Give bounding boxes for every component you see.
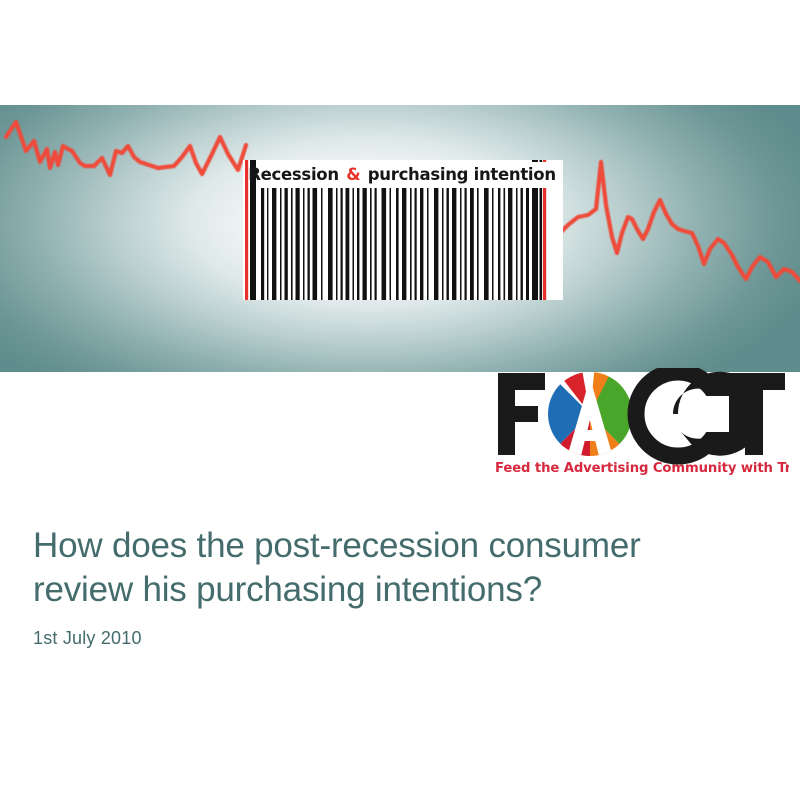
page-title: How does the post-recession consumer rev… [33,524,753,612]
barcode-label: Recession & purchasing intention [257,162,547,188]
slide-canvas: Recession & purchasing intention [0,0,800,800]
barcode-graphic: Recession & purchasing intention [243,160,563,300]
fact-logo-graphic: Feed the Advertising Community with Tren… [489,368,789,478]
barcode-label-prefix: Recession [248,165,344,184]
trend-line-left [6,122,246,175]
page-title-line-2: review his purchasing intentions? [33,568,753,612]
logo-letter-a [548,368,635,464]
recession-banner: Recession & purchasing intention [0,105,800,372]
presentation-date: 1st July 2010 [33,628,142,649]
logo-letter-f [498,373,545,455]
trend-line-right [558,162,800,281]
logo-tagline: Feed the Advertising Community with Tren… [495,461,789,476]
barcode-label-ampersand: & [344,165,362,184]
page-title-line-1: How does the post-recession consumer [33,526,641,565]
barcode-label-suffix: purchasing intention [362,165,555,184]
fact-logo: Feed the Advertising Community with Tren… [489,368,789,478]
